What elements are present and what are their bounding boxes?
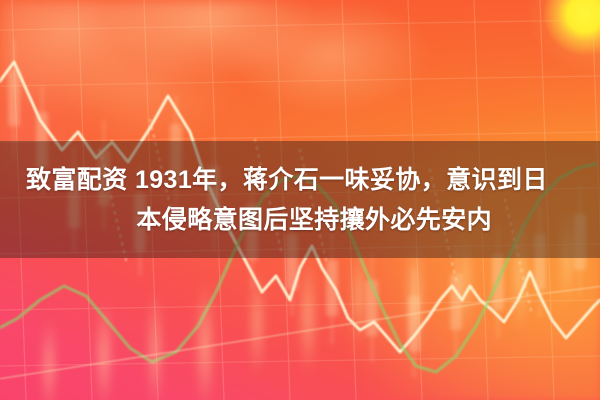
light-streak	[196, 280, 214, 400]
light-streak	[352, 246, 366, 346]
stock-chart-banner: 致富配资 1931年，蒋介石一味妥协，意识到日 本侵略意图后坚持攘外必先安内	[0, 0, 600, 400]
light-streak	[300, 256, 316, 376]
light-streak	[250, 268, 264, 378]
caption-text-block: 致富配资 1931年，蒋介石一味妥协，意识到日 本侵略意图后坚持攘外必先安内	[0, 141, 600, 258]
light-streak	[42, 318, 56, 400]
light-streak	[148, 290, 162, 400]
caption-line-2: 本侵略意图后坚持攘外必先安内	[26, 200, 574, 240]
light-streak	[96, 300, 112, 400]
caption-line-1: 致富配资 1931年，蒋介石一味妥协，意识到日	[26, 160, 574, 200]
